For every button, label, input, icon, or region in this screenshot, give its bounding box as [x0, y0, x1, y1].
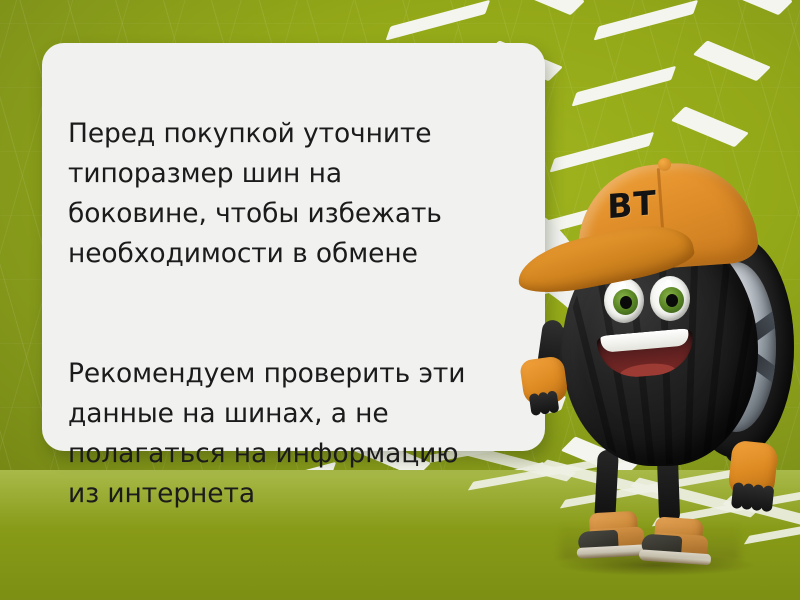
mascot-cap-logo: BT: [584, 180, 680, 230]
mascot-right-glove: [727, 440, 779, 501]
left-eye-highlight: [619, 282, 626, 289]
mascot-left-eye: [604, 278, 644, 323]
chevron-block: [594, 0, 699, 41]
chevron-block: [671, 106, 749, 147]
right-pupil: [666, 294, 678, 307]
chevron-block: [572, 66, 677, 107]
right-eye-highlight: [665, 280, 672, 287]
speech-bubble-text: Перед покупкой уточните типоразмер шин н…: [68, 74, 488, 554]
bubble-paragraph-1: Перед покупкой уточните типоразмер шин н…: [68, 114, 488, 274]
tire-mascot: BT: [500, 150, 800, 570]
mascot-left-glove: [519, 355, 569, 407]
left-iris: [613, 289, 638, 315]
glove-finger: [547, 390, 560, 413]
poster-canvas: Перед покупкой уточните типоразмер шин н…: [0, 0, 800, 600]
bubble-paragraph-2: Рекомендуем проверить эти данные на шина…: [68, 354, 488, 514]
chevron-block: [693, 40, 771, 81]
chevron-block: [715, 0, 793, 15]
mascot-floor-reflection: [560, 522, 740, 561]
mascot-cap-button: [658, 158, 671, 171]
chevron-block: [507, 0, 585, 15]
left-pupil: [620, 296, 632, 309]
right-iris: [659, 287, 684, 313]
mascot-right-eye: [650, 276, 690, 321]
glove-finger: [761, 485, 775, 512]
